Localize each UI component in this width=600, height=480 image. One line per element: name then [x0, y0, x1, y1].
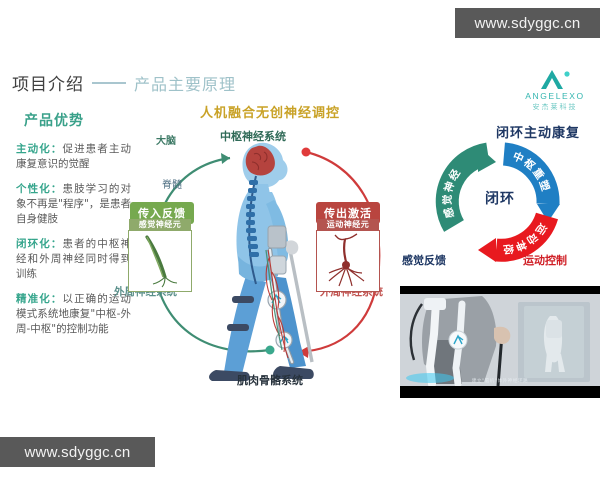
video-frame: 建立"脑机"体外神经环路	[400, 294, 600, 386]
afferent-origin-dot	[266, 346, 275, 355]
afferent-arrowhead	[221, 153, 230, 164]
label-spinal-cord: 脊髓	[162, 176, 182, 191]
efferent-origin-dot	[302, 148, 311, 157]
video-scene	[400, 294, 600, 386]
advantage-item: 主动化：促进患者主动康复意识的觉醒	[16, 142, 131, 172]
page-title-main: 项目介绍	[12, 70, 84, 95]
advantage-key: 闭环化：	[16, 238, 62, 250]
advantages-panel: 产品优势 主动化：促进患者主动康复意识的觉醒 个性化：患肢学习的对象不再是"程序…	[16, 110, 131, 347]
advantage-key: 个性化：	[16, 183, 62, 195]
knee-actuator	[268, 291, 286, 309]
arc-sensory-nerve: 感觉神经	[441, 146, 496, 226]
watermark-bottom: www.sdyggc.cn	[0, 437, 155, 467]
slide-root: 项目介绍 产品主要原理 产品优势 主动化：促进患者主动康复意识的觉醒 个性化：患…	[0, 0, 600, 480]
closed-loop-diagram: 闭环主动康复 中枢重塑 运动神经	[400, 112, 600, 287]
logo-chinese-text: 安杰莱科技	[523, 102, 587, 112]
advantage-item: 个性化：患肢学习的对象不再是"程序"，是患者自身健肢	[16, 182, 131, 227]
motor-neuron-box: 运动神经元	[316, 230, 380, 292]
closed-loop-center-label: 闭环	[485, 188, 515, 208]
label-motor-control: 运动控制	[523, 252, 567, 268]
arc-central-remodeling: 中枢重塑	[504, 149, 560, 222]
motor-neuron-icon	[317, 231, 377, 289]
angelexo-mark-icon	[537, 68, 573, 90]
sensory-neuron-box: 感觉神经元	[128, 230, 192, 292]
label-musculoskeletal-system: 肌肉骨骼系统	[237, 372, 303, 388]
patient-figure	[209, 143, 314, 381]
advantage-key: 主动化：	[16, 143, 62, 155]
human-machine-diagram: 人机融合无创神经调控	[120, 100, 420, 400]
logo-english-text: ANGELEXO	[523, 91, 587, 101]
label-central-nervous-system: 中枢神经系统	[220, 128, 286, 144]
sensory-neuron-icon	[129, 231, 189, 289]
advantage-key: 精准化：	[16, 293, 62, 305]
title-divider	[92, 82, 126, 84]
page-title: 项目介绍 产品主要原理	[12, 70, 236, 95]
advantage-item: 闭环化：患者的中枢神经和外周神经同时得到训练	[16, 237, 131, 282]
label-brain: 大脑	[156, 132, 176, 147]
advantages-title: 产品优势	[24, 110, 131, 130]
video-caption: 建立"脑机"体外神经环路	[400, 378, 600, 384]
motor-neuron-caption: 运动神经元	[317, 219, 379, 231]
watermark-top: www.sdyggc.cn	[455, 8, 600, 38]
sensory-neuron-caption: 感觉神经元	[129, 219, 191, 231]
product-video-still[interactable]: 建立"脑机"体外神经环路	[400, 286, 600, 398]
label-sensory-feedback: 感觉反馈	[402, 252, 446, 268]
page-title-sub: 产品主要原理	[134, 71, 236, 95]
brand-logo: ANGELEXO 安杰莱科技	[523, 68, 587, 112]
